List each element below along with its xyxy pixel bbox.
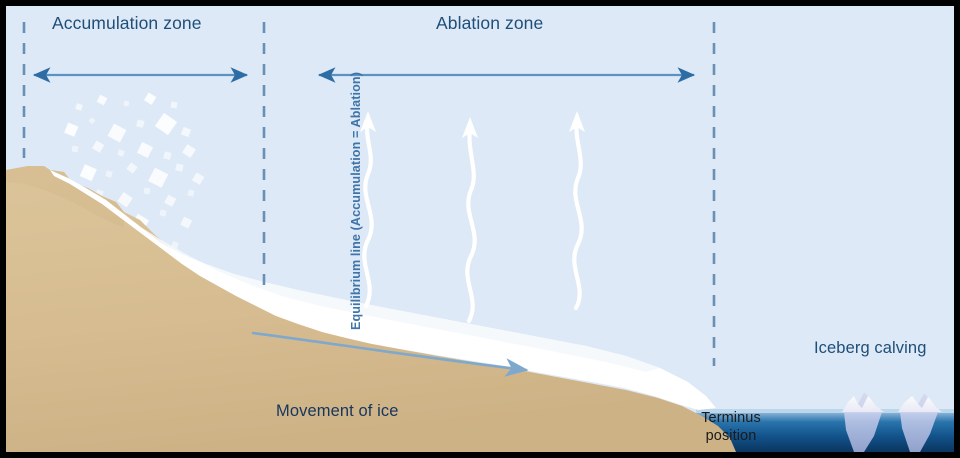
movement-of-ice-label: Movement of ice xyxy=(276,402,399,421)
terminus-position-line-2: position xyxy=(678,427,784,445)
diagram-frame: Accumulation zone Ablation zone Equilibr… xyxy=(0,0,960,458)
equilibrium-line-label-wrap: Equilibrium line (Accumulation = Ablatio… xyxy=(276,36,300,296)
equilibrium-line-label: Equilibrium line (Accumulation = Ablatio… xyxy=(349,71,363,331)
accumulation-zone-label: Accumulation zone xyxy=(52,13,202,34)
terminus-position-label: Terminus position xyxy=(678,409,784,445)
iceberg-calving-label: Iceberg calving xyxy=(814,339,926,358)
glacier-scene: Accumulation zone Ablation zone Equilibr… xyxy=(6,6,954,452)
ablation-zone-label: Ablation zone xyxy=(436,13,543,34)
terminus-position-line-1: Terminus xyxy=(678,409,784,427)
glacier-illustration xyxy=(6,6,954,452)
